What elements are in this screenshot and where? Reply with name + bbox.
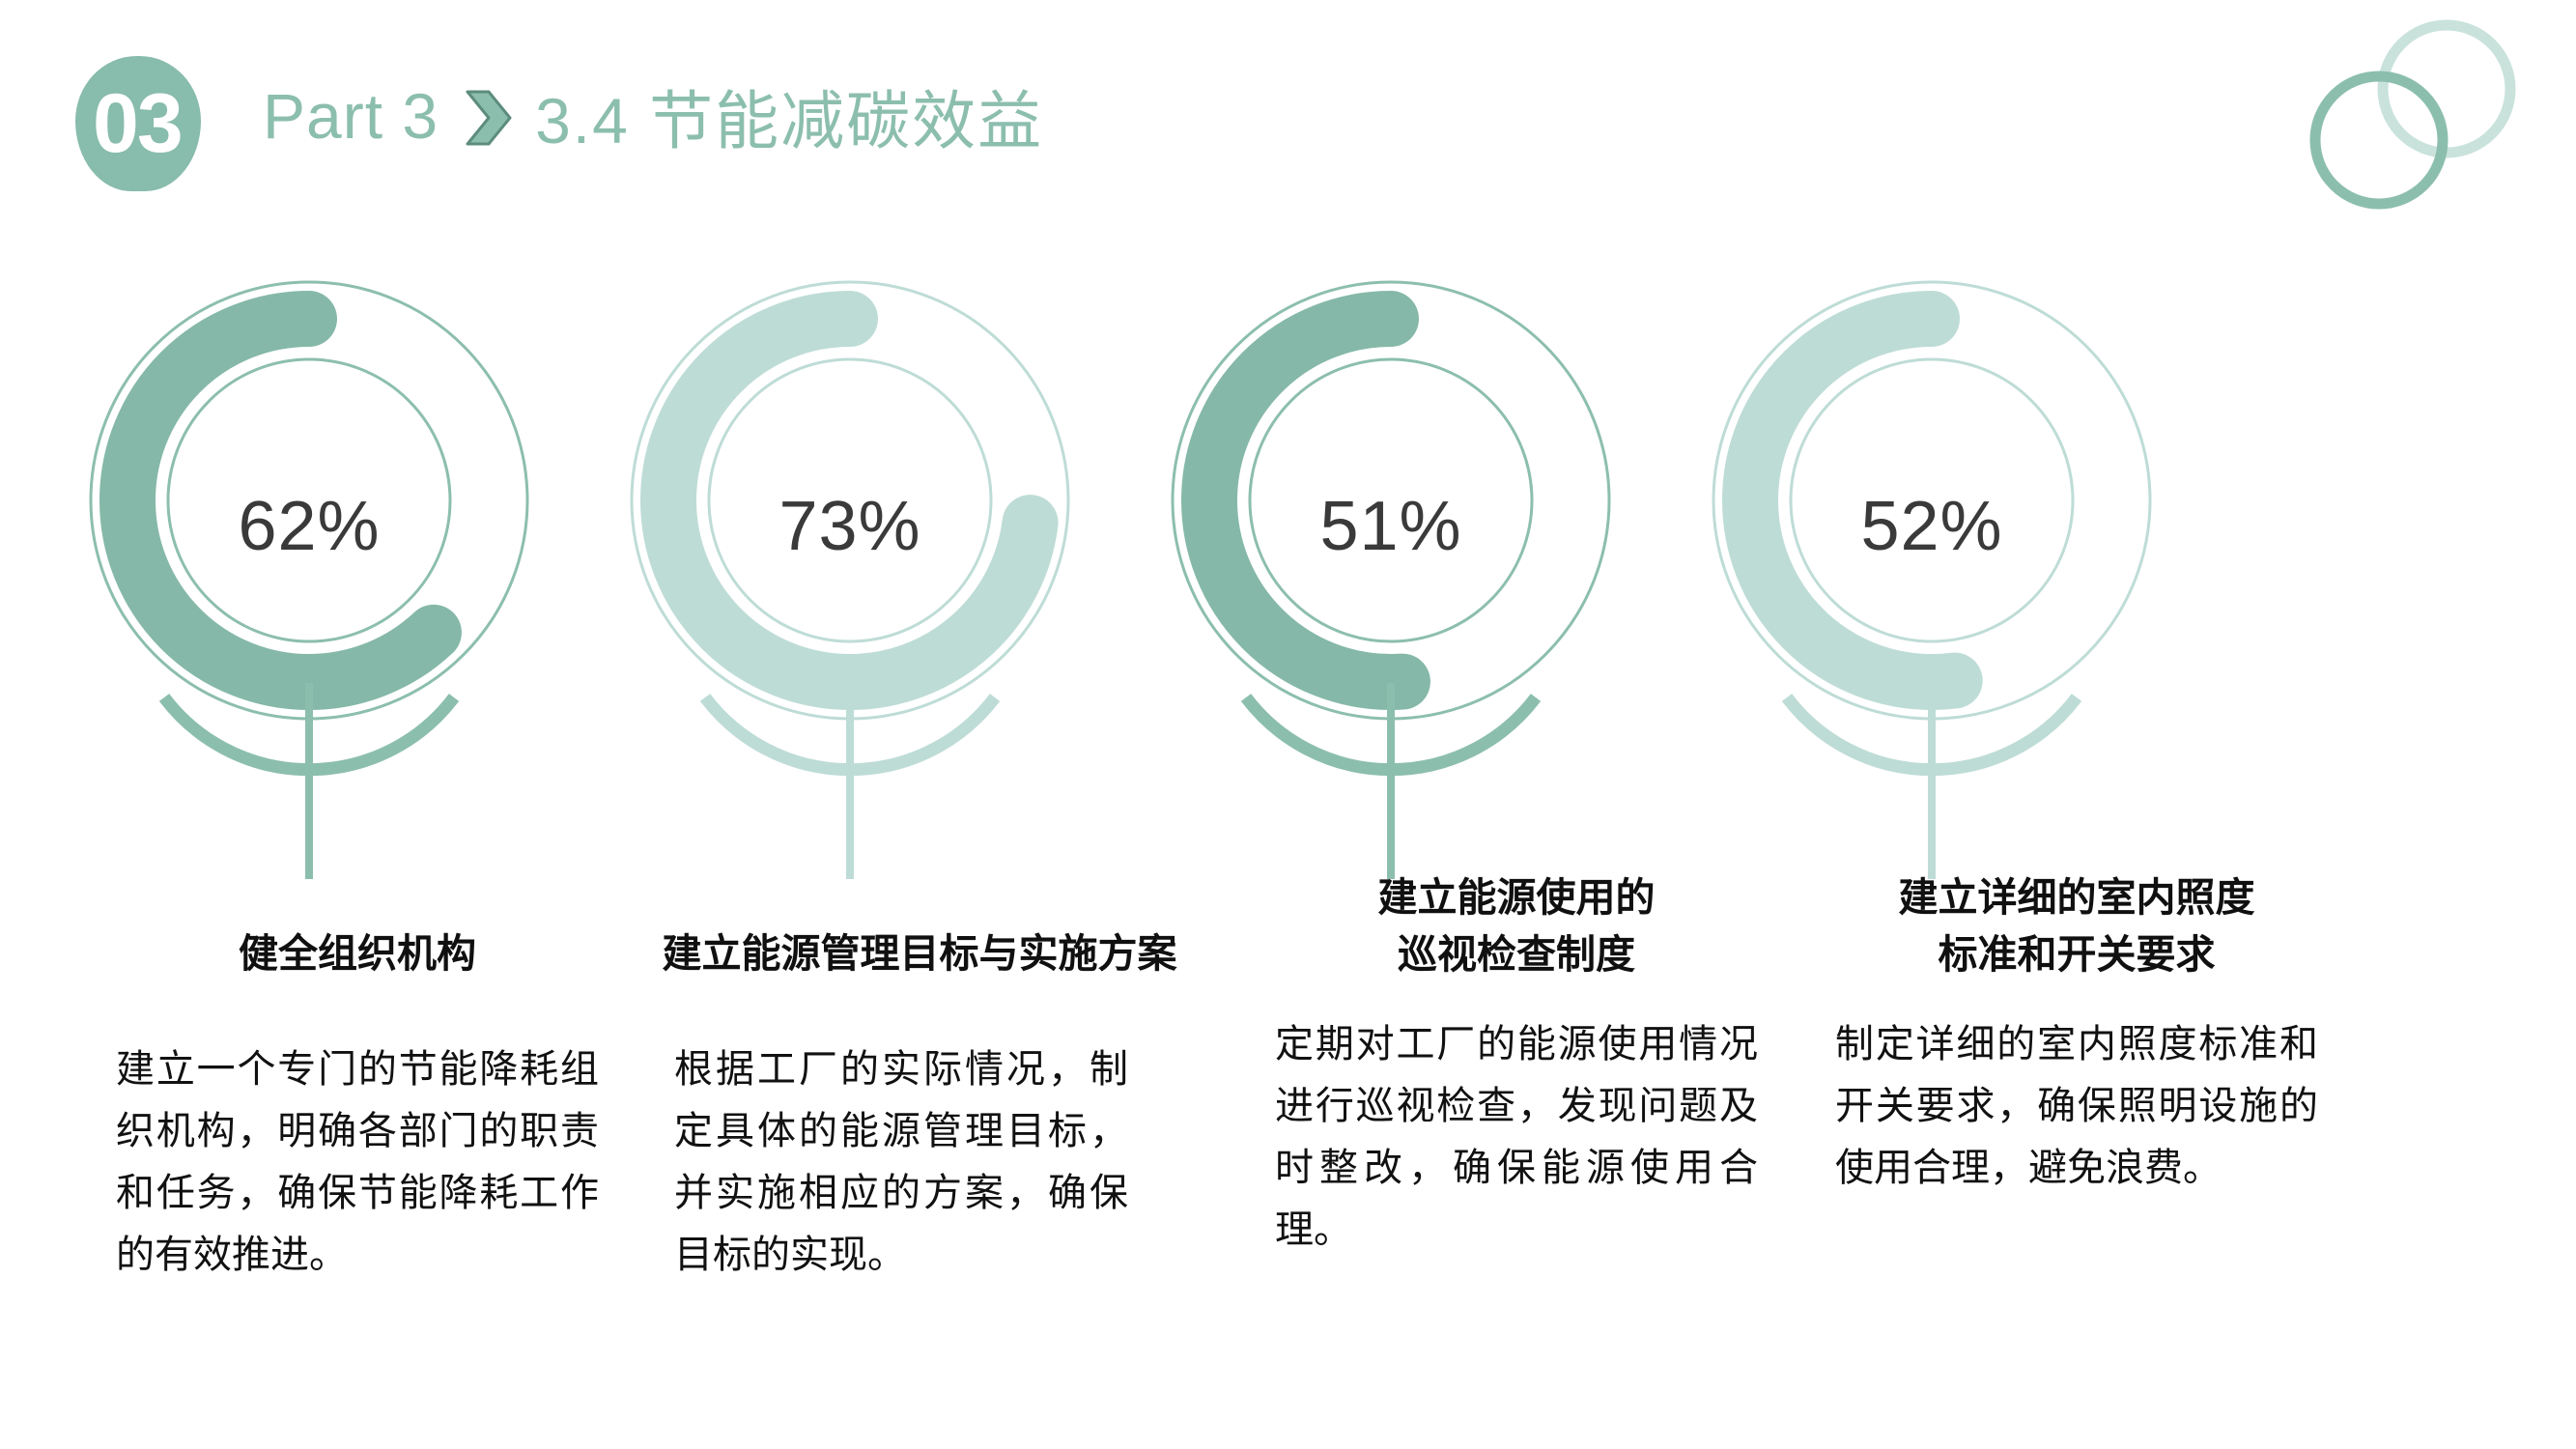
donut-chart-row: 62% 73% 51% (0, 261, 2576, 879)
donut-value-3: 51% (1151, 487, 1630, 566)
donut-value-2: 73% (610, 487, 1090, 566)
description-heading-2: 建立能源管理目标与实施方案 (649, 925, 1190, 982)
description-heading-3: 建立能源使用的 巡视检查制度 (1275, 869, 1758, 984)
heading-line: 巡视检查制度 (1275, 926, 1758, 983)
donut-graphic-3 (1151, 261, 1630, 879)
chevron-right-icon (464, 88, 514, 148)
breadcrumb: Part 3 3.4 节能减碳效益 (263, 70, 1043, 162)
description-body-3: 定期对工厂的能源使用情况进行巡视检查，发现问题及时整改，确保能源使用合理。 (1275, 1013, 1758, 1261)
description-heading-4: 建立详细的室内照度 标准和开关要求 (1835, 869, 2318, 984)
description-col-1: 健全组织机构 建立一个专门的节能降耗组织机构，明确各部门的职责和任务，确保节能降… (116, 925, 599, 1286)
badge-number-label: 03 (75, 56, 220, 191)
donut-chart-1: 62% (39, 261, 580, 879)
donut-chart-4: 52% (1661, 261, 2202, 879)
page-title: 3.4 节能减碳效益 (535, 70, 1043, 162)
section-number-badge: 03 (75, 56, 220, 201)
description-col-3: 建立能源使用的 巡视检查制度 定期对工厂的能源使用情况进行巡视检查，发现问题及时… (1275, 869, 1758, 1261)
description-heading-1: 健全组织机构 (116, 925, 599, 982)
description-row: 健全组织机构 建立一个专门的节能降耗组织机构，明确各部门的职责和任务，确保节能降… (0, 869, 2576, 1430)
page-header: 03 Part 3 3.4 节能减碳效益 (0, 0, 2576, 222)
heading-line: 建立详细的室内照度 (1835, 869, 2318, 926)
donut-graphic-1 (70, 261, 549, 879)
heading-line: 建立能源管理目标与实施方案 (649, 925, 1190, 982)
description-col-2: 建立能源管理目标与实施方案 根据工厂的实际情况，制定具体的能源管理目标，并实施相… (649, 925, 1190, 1286)
description-body-4: 制定详细的室内照度标准和开关要求，确保照明设施的使用合理，避免浪费。 (1835, 1013, 2318, 1199)
description-body-2: 根据工厂的实际情况，制定具体的能源管理目标，并实施相应的方案，确保目标的实现。 (674, 1038, 1128, 1286)
heading-line: 建立能源使用的 (1275, 869, 1758, 926)
description-body-1: 建立一个专门的节能降耗组织机构，明确各部门的职责和任务，确保节能降耗工作的有效推… (116, 1038, 599, 1286)
donut-chart-2: 73% (580, 261, 1120, 879)
heading-line: 健全组织机构 (116, 925, 599, 982)
donut-graphic-4 (1692, 261, 2171, 879)
breadcrumb-part-label: Part 3 (263, 79, 439, 153)
donut-graphic-2 (610, 261, 1090, 879)
donut-chart-3: 51% (1120, 261, 1661, 879)
donut-value-4: 52% (1692, 487, 2171, 566)
description-col-4: 建立详细的室内照度 标准和开关要求 制定详细的室内照度标准和开关要求，确保照明设… (1835, 869, 2318, 1199)
heading-line: 标准和开关要求 (1835, 926, 2318, 983)
decorative-circles (2267, 10, 2557, 213)
donut-value-1: 62% (70, 487, 549, 566)
